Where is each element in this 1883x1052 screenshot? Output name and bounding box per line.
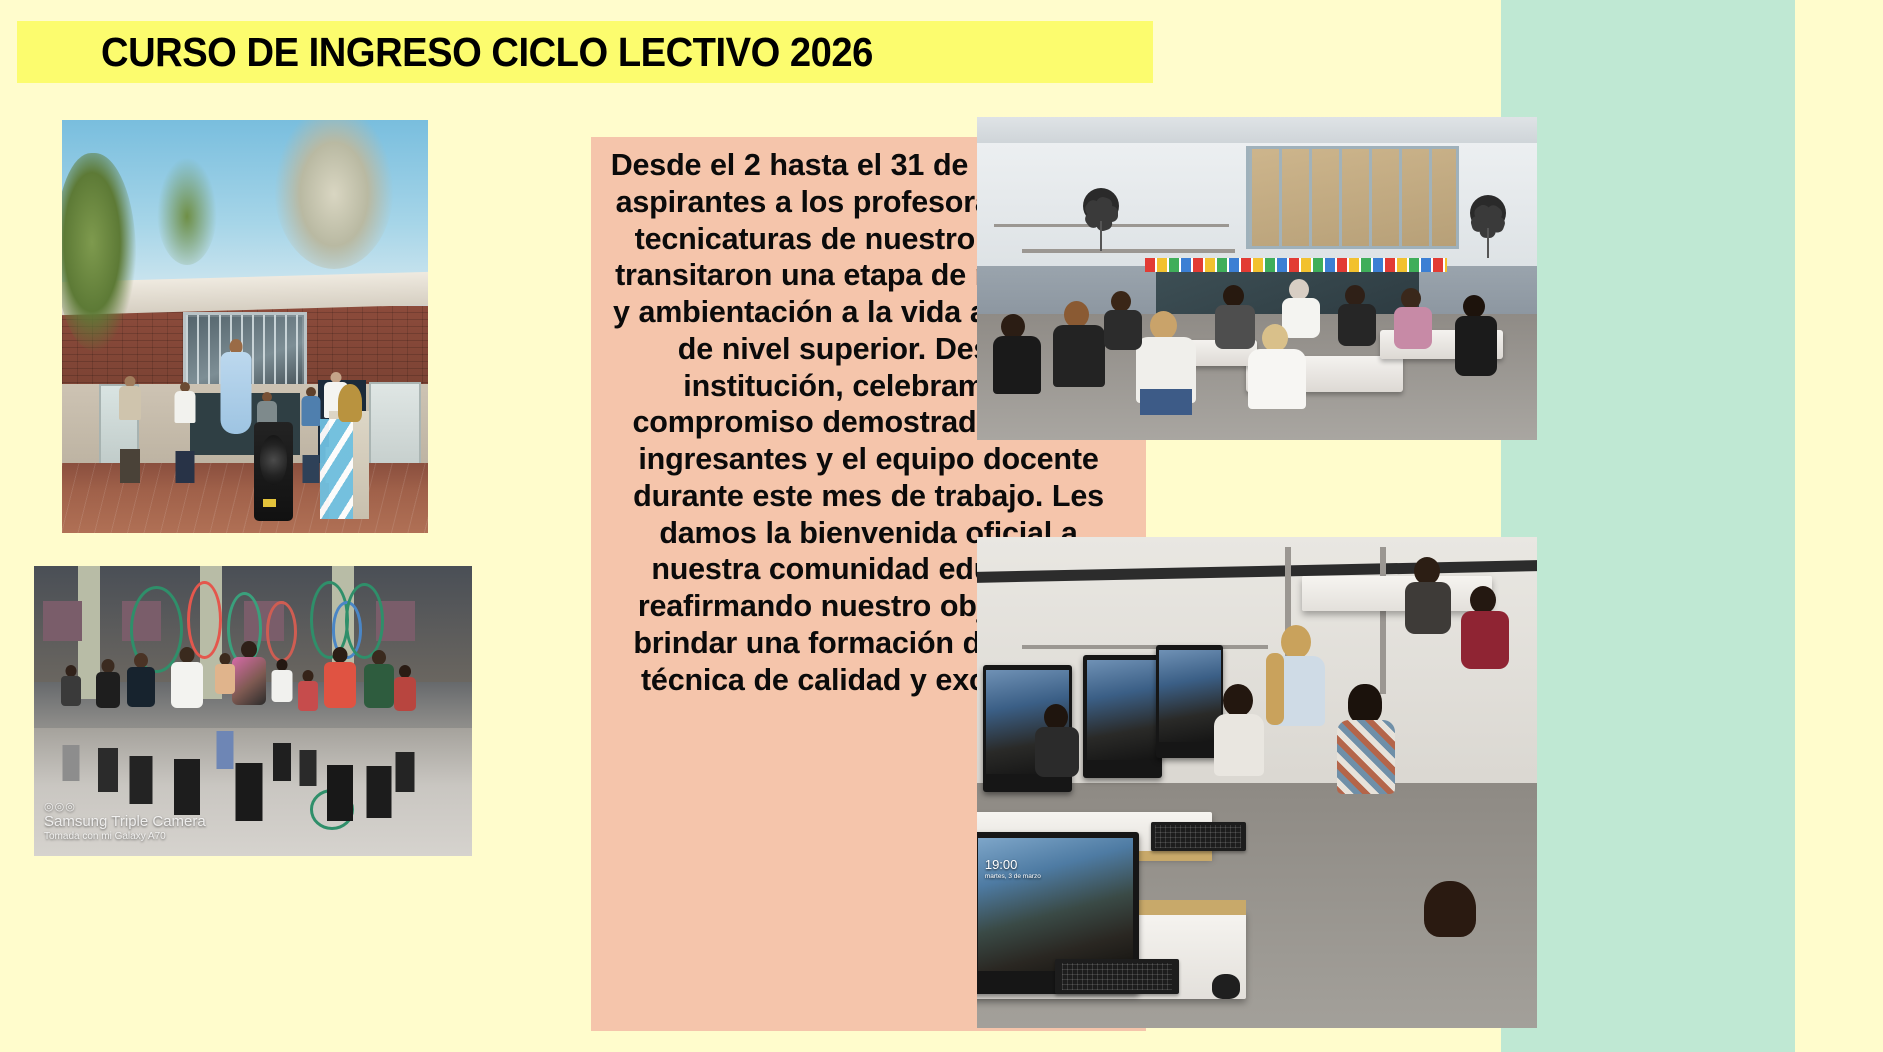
hoop-icon <box>266 601 297 662</box>
photo-hoops: ◎◎◎ Samsung Triple Camera Tomada con mi … <box>34 566 472 856</box>
student-figure <box>1403 557 1453 734</box>
triple-camera-icon: ◎◎◎ <box>44 801 206 814</box>
student-figure <box>363 650 395 818</box>
title-banner: CURSO DE INGRESO CICLO LECTIVO 2026 <box>17 21 1153 83</box>
computer-monitor <box>1083 655 1161 778</box>
student-figure <box>60 665 82 781</box>
wall-pipe <box>1380 547 1386 694</box>
wall-pipe <box>1022 645 1268 649</box>
student-figure <box>297 670 319 786</box>
monitor-screen <box>1087 660 1159 761</box>
student-figure <box>323 647 357 821</box>
student-figure <box>1414 881 1488 1028</box>
student-figure <box>1453 295 1499 424</box>
student-figure <box>1335 684 1397 939</box>
fan-cable <box>1487 228 1489 258</box>
window <box>43 601 82 642</box>
window-bars <box>1249 149 1456 246</box>
student-figure <box>1391 288 1433 385</box>
student-figure <box>1100 291 1144 381</box>
photo-computer-lab: 19:00 martes, 3 de marzo <box>977 537 1537 1028</box>
page-title: CURSO DE INGRESO CICLO LECTIVO 2026 <box>101 29 873 76</box>
student-figure <box>1050 301 1108 440</box>
student-figure <box>170 647 204 815</box>
window <box>1246 146 1459 249</box>
speaker-cone <box>260 435 288 485</box>
student-figure <box>1212 684 1266 890</box>
tree-icon <box>157 157 217 264</box>
watermark-line1: Samsung Triple Camera <box>44 813 206 830</box>
fan-cable <box>1100 221 1102 251</box>
person-figure <box>168 380 201 483</box>
student-figure <box>1033 704 1081 871</box>
student-figure <box>95 659 121 792</box>
wall-pipe <box>1022 249 1235 252</box>
argentine-flag-sash <box>320 419 353 518</box>
camera-watermark: ◎◎◎ Samsung Triple Camera Tomada con mi … <box>44 801 206 842</box>
lockscreen-date-value: martes, 3 de marzo <box>985 873 1041 880</box>
student-figure <box>214 653 236 769</box>
student-figure <box>1459 586 1511 782</box>
student-figure <box>231 641 267 821</box>
student-figure <box>1335 285 1377 382</box>
lockscreen-time-value: 19:00 <box>985 857 1018 872</box>
keyboard <box>1055 959 1178 993</box>
photo-classroom <box>977 117 1537 440</box>
photo-ceremony <box>62 120 428 533</box>
ceiling <box>977 117 1537 146</box>
speaker-label <box>263 499 276 507</box>
person-figure <box>113 376 146 483</box>
student-figure <box>393 665 417 793</box>
bust-statue <box>338 384 362 421</box>
decorative-mint-band <box>1501 0 1795 1052</box>
metal-door <box>369 382 420 469</box>
mouse <box>1212 974 1240 999</box>
student-figure <box>1268 625 1326 861</box>
poster-canvas: CURSO DE INGRESO CICLO LECTIVO 2026 Desd… <box>0 0 1883 1052</box>
wall-fan-icon <box>1470 195 1506 231</box>
wall-fan-icon <box>1083 188 1119 224</box>
student-figure <box>988 314 1044 440</box>
student-figure <box>126 653 156 804</box>
student-figure <box>1246 324 1308 440</box>
periodic-table-strip <box>1145 258 1447 273</box>
loudspeaker <box>254 422 292 521</box>
student-figure <box>271 659 293 781</box>
watermark-line2: Tomada con mi Galaxy A70 <box>44 831 206 843</box>
